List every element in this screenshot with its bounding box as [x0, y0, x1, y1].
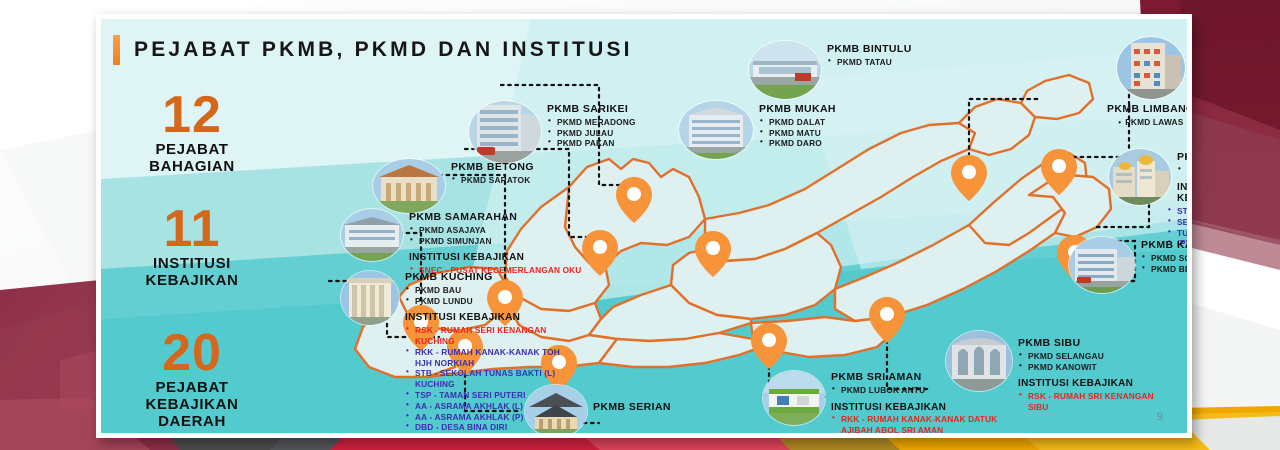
- photo-sibu: [946, 331, 1012, 391]
- slide-title: PEJABAT PKMB, PKMD DAN INSTITUSI: [113, 35, 633, 65]
- callout-sub-item: PKMD MERADONG: [557, 117, 636, 128]
- photo-mukah: [679, 101, 753, 159]
- stat-label-line1: INSTITUSI: [117, 256, 267, 273]
- callout-title: PKMB MUKAH: [759, 103, 836, 116]
- inst-head-line2: KEBAJIKAN: [1177, 193, 1187, 205]
- callout-sub-item: PKMD SIMUNJAN: [419, 236, 581, 247]
- callout-title: PKMB LIMBANG: [1107, 103, 1187, 116]
- photo-serian: [525, 385, 587, 433]
- callout-betong: PKMB BETONG PKMD SARATOK: [373, 159, 534, 213]
- callout-sub-item: PKMD LUNDU: [415, 296, 563, 307]
- stat-pejabat-kebajikan-daerah: 20 PEJABAT KEBAJIKAN DAERAH: [117, 329, 267, 431]
- inst-head-line1: INSTITUSI: [1177, 182, 1187, 194]
- callout-sarikei: PKMB SARIKEI PKMD MERADONG PKMD JULAU PK…: [469, 101, 636, 163]
- page-number: 9: [1157, 411, 1163, 423]
- callout-title: PKMB SAMARAHAN: [409, 211, 581, 224]
- title-accent-bar: [113, 35, 120, 65]
- callout-title: PKMB SARIKEI: [547, 103, 636, 116]
- callout-title: PKMB KAPIT: [1141, 239, 1187, 252]
- photo-bintulu: [749, 41, 821, 99]
- callout-title: PKMB BINTULU: [827, 43, 912, 56]
- callout-sibu: PKMB SIBU PKMD SELANGAU PKMD KANOWIT INS…: [946, 331, 1156, 413]
- photo-sarikei: [469, 101, 541, 163]
- callout-sub-item: PKMD KANOWIT: [1028, 362, 1156, 373]
- stat-label-line2: KEBAJIKAN: [117, 397, 267, 414]
- callout-sub-item: PKMD TATAU: [837, 57, 912, 68]
- inst-head: INSTITUSI KEBAJIKAN: [409, 252, 581, 264]
- callout-sub-item: PKMD DARO: [769, 138, 836, 149]
- callout-title: PKMB MIRI: [1177, 151, 1187, 164]
- inst-item: RKK - RUMAH KANAK-KANAK TOH HJH NORKIAH: [415, 347, 563, 369]
- inst-item: RSK - RUMAH SERI KENANGAN KUCHING: [415, 325, 563, 347]
- callout-sub-item: PKMD LAWAS: [1107, 117, 1187, 129]
- callout-sub-item: PKMD SONG: [1151, 253, 1187, 264]
- photo-samarahan: [341, 209, 403, 261]
- callout-bintulu: PKMB BINTULU PKMD TATAU: [749, 41, 912, 99]
- callout-sub-item: PKMD DALAT: [769, 117, 836, 128]
- photo-betong: [373, 159, 445, 213]
- callout-sub-item: PKMD ASAJAYA: [419, 225, 581, 236]
- callout-title: PKMB BETONG: [451, 161, 534, 174]
- stat-label-line1: PEJABAT: [117, 380, 267, 397]
- callout-samarahan: PKMB SAMARAHAN PKMD ASAJAYA PKMD SIMUNJA…: [341, 209, 581, 276]
- callout-title: PKMB KUCHING: [405, 271, 563, 284]
- stat-label-line2: BAHAGIAN: [117, 159, 267, 176]
- stat-label-line1: PEJABAT: [117, 142, 267, 159]
- photo-sriaman: [763, 371, 825, 425]
- callout-sub-item: PKMD MATU: [769, 128, 836, 139]
- stat-pejabat-bahagian: 12 PEJABAT BAHAGIAN: [117, 91, 267, 176]
- page-title: PEJABAT PKMB, PKMD DAN INSTITUSI: [134, 38, 633, 62]
- photo-limbang: [1117, 37, 1185, 99]
- stat-institusi-kebajikan: 11 INSTITUSI KEBAJIKAN: [117, 205, 267, 290]
- inst-head: INSTITUSI KEBAJIKAN: [1018, 378, 1156, 390]
- callout-serian: PKMB SERIAN: [525, 385, 671, 433]
- stat-number: 12: [117, 91, 267, 140]
- callout-sub-item: PKMD BAU: [415, 285, 563, 296]
- inst-head: INSTITUSI KEBAJIKAN: [405, 312, 563, 324]
- callout-sub-item: PKMD BELAGA: [1151, 264, 1187, 275]
- callout-kapit: PKMB KAPIT PKMD SONG PKMD BELAGA: [1069, 237, 1187, 293]
- inst-item: SEKOLAH: [1177, 217, 1187, 228]
- inst-item: RKK - RUMAH KANAK-KANAK DATUK AJIBAH ABO…: [841, 414, 1009, 433]
- inst-item: STB -: [1177, 206, 1187, 217]
- callout-sub-item: PKMD SELANGAU: [1028, 351, 1156, 362]
- stat-number: 20: [117, 329, 267, 378]
- callout-title: PKMB SIBU: [1018, 337, 1156, 350]
- photo-miri: [1109, 149, 1171, 205]
- callout-mukah: PKMB MUKAH PKMD DALAT PKMD MATU PKMD DAR…: [679, 101, 836, 159]
- callout-limbang: PKMB LIMBANG PKMD LAWAS: [1107, 37, 1187, 128]
- photo-kuching: [341, 271, 399, 325]
- callout-sub-item: PKMD SARATOK: [461, 175, 534, 186]
- callout-sub-item: PKMD JULAU: [557, 128, 636, 139]
- stat-label-line2: KEBAJIKAN: [117, 273, 267, 290]
- callout-sub-item: PKMD PAKAN: [557, 138, 636, 149]
- callout-title: PKMB SERIAN: [593, 401, 671, 414]
- slide-card: PEJABAT PKMB, PKMD DAN INSTITUSI 12 PEJA…: [96, 14, 1192, 438]
- stat-number: 11: [117, 205, 267, 254]
- stat-label-line3: DAERAH: [117, 414, 267, 431]
- inst-item: RSK - RUMAH SRI KENANGAN SIBU: [1028, 391, 1156, 413]
- photo-kapit: [1069, 237, 1135, 293]
- callout-miri: PKMB MIRI PKMD MARUDI INSTITUSI KEBAJIKA…: [1109, 149, 1187, 249]
